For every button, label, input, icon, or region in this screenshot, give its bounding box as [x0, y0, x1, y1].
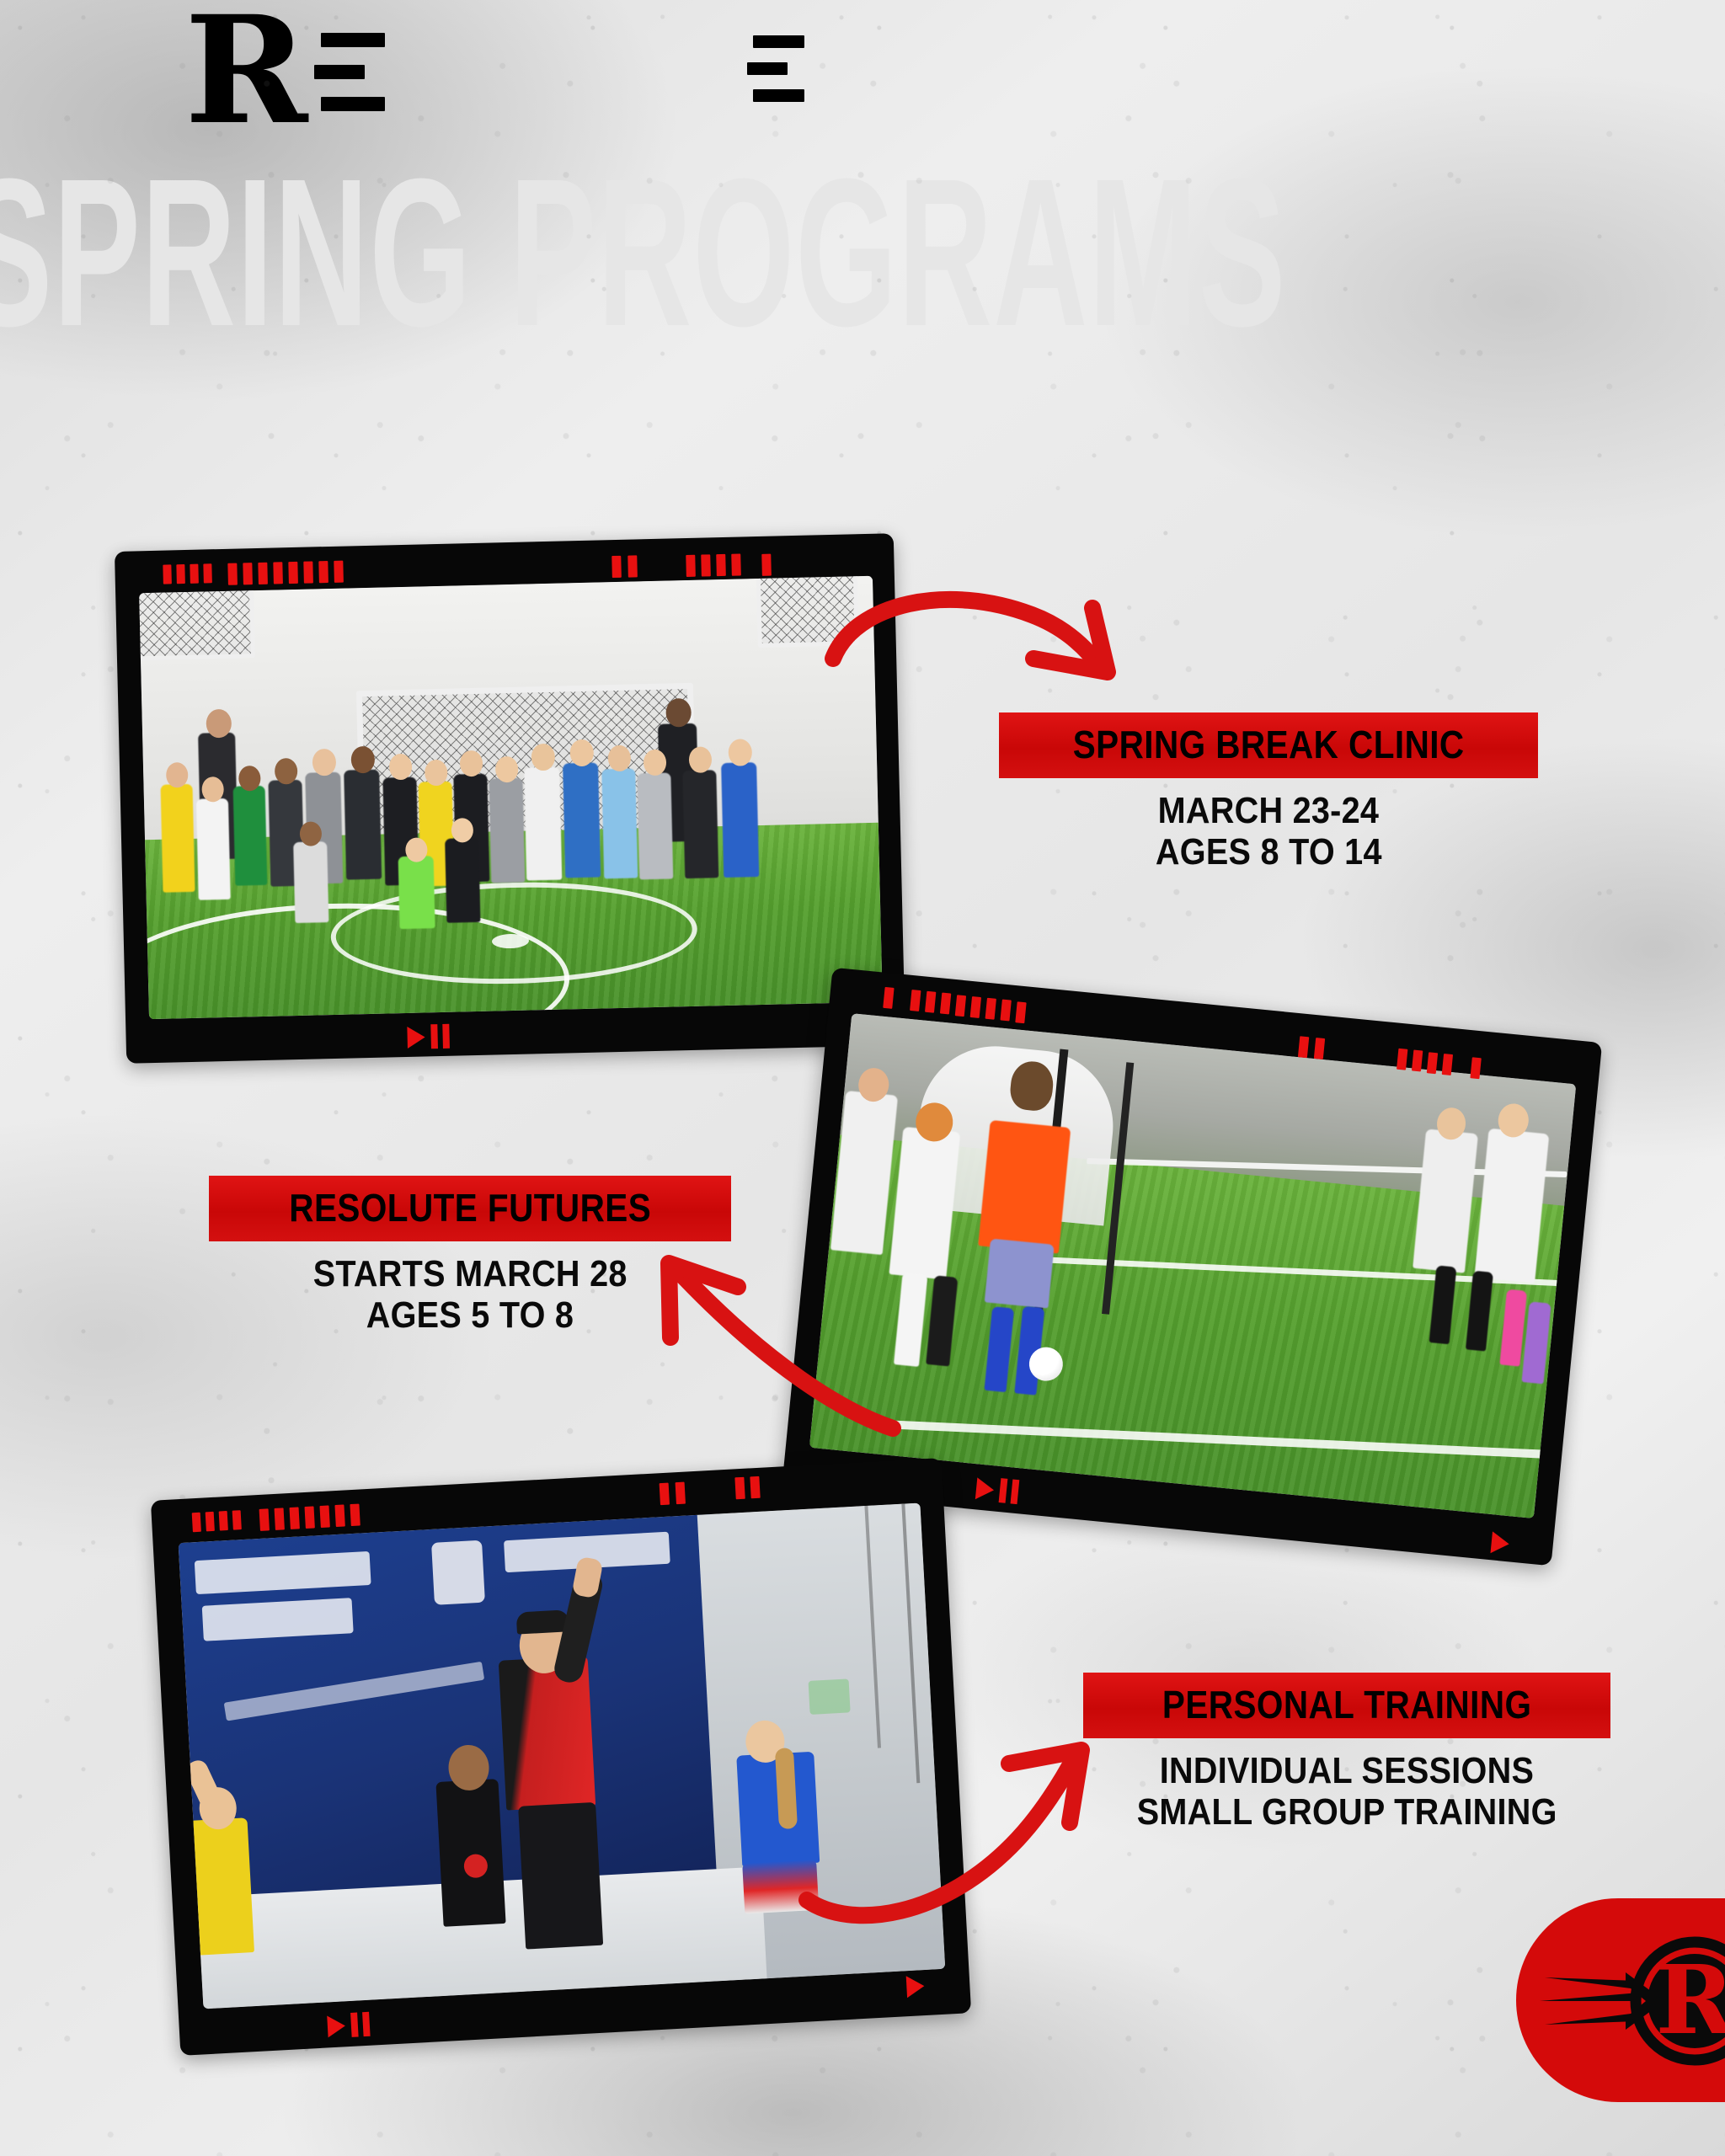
sprocket-tick — [985, 998, 996, 1020]
sprocket-tick — [303, 561, 313, 583]
pause-icon — [1011, 1479, 1020, 1504]
play-icon — [407, 1026, 425, 1048]
arrow-to-personal-training — [792, 1735, 1112, 1929]
sprocket-tick — [1015, 1001, 1026, 1023]
play-icon — [327, 2015, 345, 2037]
sprocket-tick — [731, 553, 741, 575]
pause-icon — [999, 1478, 1008, 1503]
sprocket-tick — [925, 991, 936, 1013]
sprocket-tick — [192, 1513, 201, 1533]
sprocket-tick — [611, 556, 622, 578]
sprocket-tick — [176, 564, 185, 584]
pause-icon — [442, 1024, 450, 1049]
sprocket-tick — [334, 561, 344, 583]
program-title-resolute-futures: RESOLUTE FUTURES — [209, 1176, 731, 1241]
sprocket-tick — [955, 995, 966, 1017]
sprocket-tick — [716, 554, 726, 576]
play-icon — [1490, 1531, 1509, 1555]
brand-corner-badge: R — [1516, 1898, 1725, 2102]
sprocket-tick — [319, 1505, 329, 1528]
sprocket-tick — [288, 562, 298, 584]
sprocket-tick — [940, 992, 951, 1014]
play-icon — [975, 1477, 995, 1501]
resolute-r-mark-icon: R — [1538, 1929, 1725, 2073]
sprocket-tick — [1000, 1000, 1011, 1022]
sprocket-tick — [734, 1477, 745, 1500]
sprocket-tick — [275, 1508, 285, 1530]
program-details-personal-training: INDIVIDUAL SESSIONS SMALL GROUP TRAINING — [1083, 1738, 1610, 1833]
team-group-photo — [139, 576, 883, 1019]
sprocket-tick — [701, 554, 711, 576]
sprocket-tick — [243, 563, 253, 584]
sprocket-tick — [232, 1510, 242, 1530]
sprocket-tick — [163, 564, 172, 584]
program-title-personal-training: PERSONAL TRAINING — [1083, 1673, 1610, 1738]
sprocket-tick — [628, 555, 638, 577]
youth-match-photo — [809, 1013, 1576, 1518]
sprocket-tick — [750, 1476, 760, 1499]
sprocket-tick — [190, 564, 199, 584]
sprocket-tick — [304, 1506, 314, 1529]
sprocket-tick — [883, 987, 894, 1009]
sprocket-tick — [676, 1482, 686, 1505]
sprocket-tick — [318, 561, 328, 583]
pause-icon — [350, 2013, 359, 2037]
arrow-to-resolute-futures — [640, 1238, 910, 1449]
sprocket-tick — [761, 554, 772, 576]
sprocket-tick — [206, 1512, 215, 1532]
sprocket-tick — [1298, 1036, 1309, 1058]
sprocket-tick — [660, 1483, 670, 1506]
sprocket-tick — [910, 990, 921, 1011]
sprocket-tick — [1314, 1038, 1325, 1059]
pause-icon — [430, 1024, 438, 1049]
sprocket-tick — [259, 1508, 270, 1531]
program-details-spring-break-clinic: MARCH 23-24 AGES 8 TO 14 — [999, 778, 1538, 873]
sprocket-tick — [686, 555, 696, 577]
sprocket-tick — [334, 1504, 344, 1527]
sprocket-tick — [970, 996, 981, 1018]
sprocket-tick — [350, 1504, 360, 1527]
sprocket-tick — [258, 563, 268, 584]
sprocket-tick — [290, 1507, 300, 1529]
arrow-to-spring-break-clinic — [821, 578, 1141, 746]
photo-frame-team-group — [115, 533, 905, 1064]
program-block-personal-training: PERSONAL TRAINING INDIVIDUAL SESSIONS SM… — [1083, 1673, 1610, 1833]
pause-icon — [362, 2012, 371, 2036]
svg-text:R: R — [1655, 1945, 1725, 2056]
sprocket-tick — [219, 1511, 228, 1531]
sprocket-tick — [203, 563, 212, 583]
sprocket-tick — [273, 562, 283, 584]
sprocket-tick — [227, 563, 238, 585]
play-icon — [906, 1975, 925, 1998]
